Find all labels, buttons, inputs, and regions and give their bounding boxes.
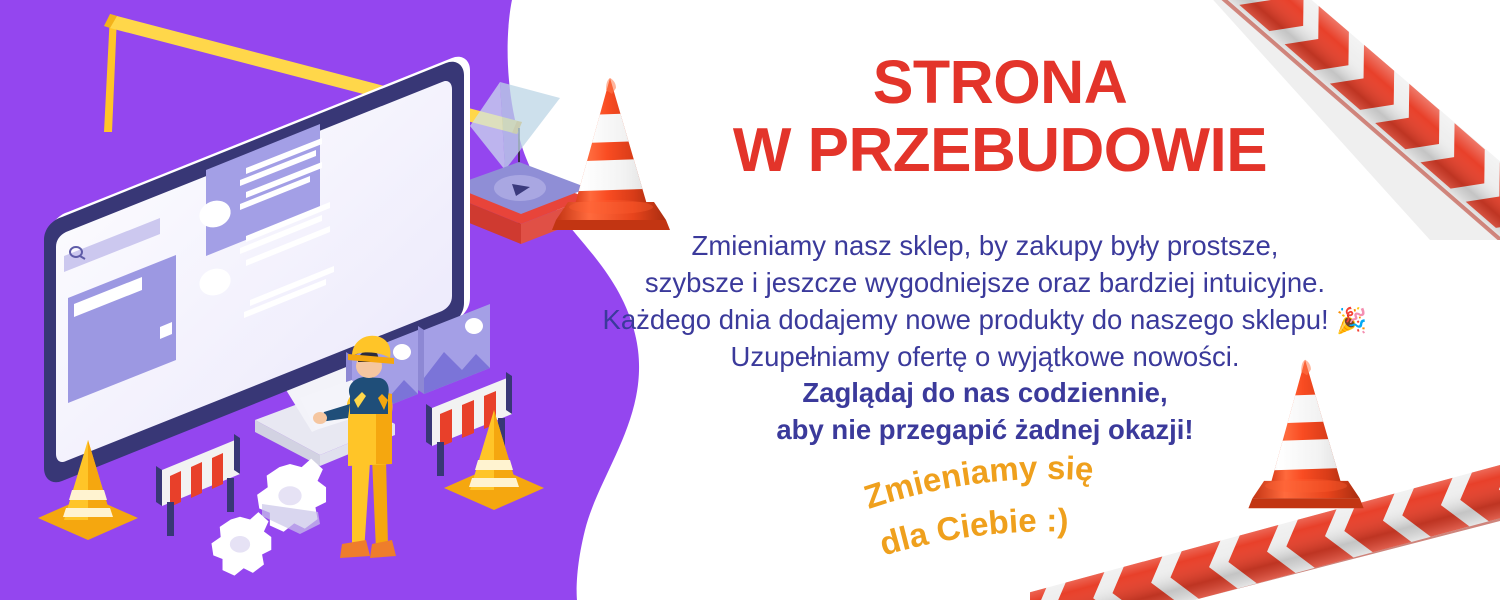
under-construction-banner: STRONA W PRZEBUDOWIE Zmieniamy nasz skle… — [0, 0, 1500, 600]
body-line-2: szybsze i jeszcze wygodniejsze oraz bard… — [520, 265, 1450, 302]
page-title: STRONA W PRZEBUDOWIE — [560, 48, 1440, 186]
script-tagline: Zmieniamy się Zmieniamy się dla Ciebie :… — [855, 455, 1195, 565]
party-popper-icon: 🎉 — [1336, 307, 1367, 335]
headline-line-1: STRONA — [560, 48, 1440, 116]
road-barrier — [156, 434, 240, 536]
gear-icon — [211, 512, 271, 575]
body-copy: Zmieniamy nasz sklep, by zakupy były pro… — [520, 228, 1450, 449]
body-line-5: Zaglądaj do nas codziennie, — [520, 375, 1450, 412]
script-line-2: dla Ciebie :) — [875, 501, 1069, 562]
body-line-1: Zmieniamy nasz sklep, by zakupy były pro… — [520, 228, 1450, 265]
body-line-6: aby nie przegapić żadnej okazji! — [520, 412, 1450, 449]
body-line-3: Każdego dnia dodajemy nowe produkty do n… — [520, 302, 1450, 339]
body-line-3-text: Każdego dnia dodajemy nowe produkty do n… — [603, 304, 1329, 335]
headline-line-2: W PRZEBUDOWIE — [560, 116, 1440, 185]
body-line-4: Uzupełniamy ofertę o wyjątkowe nowości. — [520, 339, 1450, 376]
